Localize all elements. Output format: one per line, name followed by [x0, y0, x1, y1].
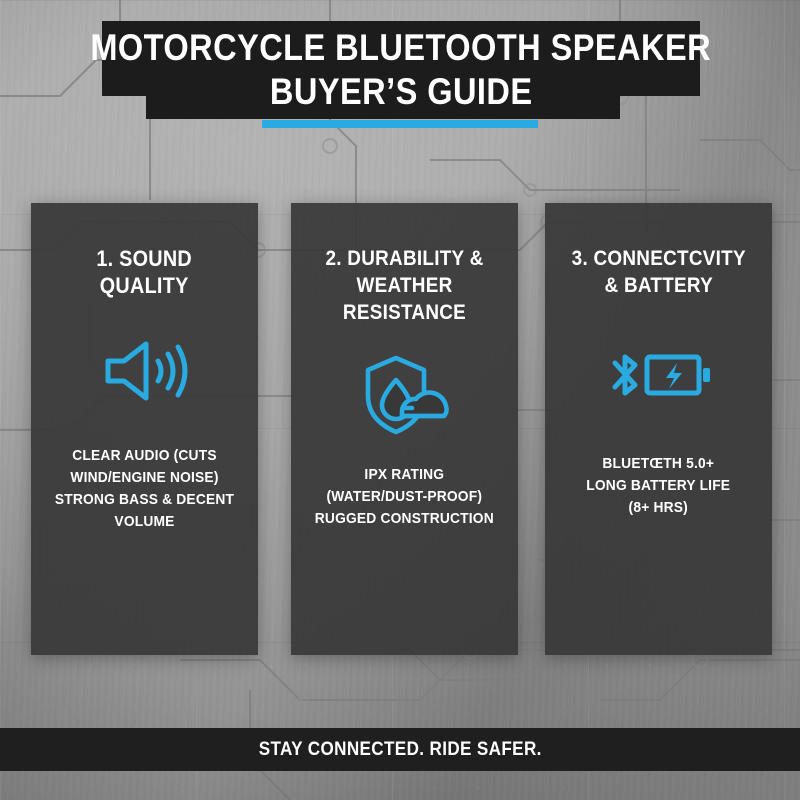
card-title: 2. DURABILITY & WEATHER RESISTANCE — [302, 245, 506, 326]
feature-card-connectivity-battery: 3. CONNECTCVITY & BATTERY BLUETŒTH 5.0+ … — [545, 203, 772, 655]
bluetooth-battery-charging-icon — [607, 337, 711, 413]
infographic-poster: MOTORCYCLE BLUETOOTH SPEAKER BUYER’S GUI… — [0, 0, 800, 800]
title-line-1: MOTORCYCLE BLUETOOTH SPEAKER — [91, 26, 712, 70]
footer-tagline: STAY CONNECTED. RIDE SAFER. — [258, 739, 541, 761]
card-body: IPX RATING (WATER/DUST-PROOF) RUGGED CON… — [309, 464, 499, 530]
card-body: CLEAR AUDIO (CUTS WIND/ENGINE NOISE) STR… — [40, 445, 249, 533]
feature-card-sound-quality: 1. SOUND QUALITY CLEAR AUDIO (CUTS WIND/… — [31, 203, 258, 655]
accent-underline — [262, 120, 538, 128]
card-title: 1. SOUND QUALITY — [93, 245, 196, 299]
feature-card-durability-weather: 2. DURABILITY & WEATHER RESISTANCE IPX R… — [291, 203, 518, 655]
footer-bar: STAY CONNECTED. RIDE SAFER. — [0, 728, 800, 771]
page-title: MOTORCYCLE BLUETOOTH SPEAKER BUYER’S GUI… — [102, 21, 700, 119]
card-body: BLUETŒTH 5.0+ LONG BATTERY LIFE (8+ HRS) — [581, 453, 736, 519]
card-title: 3. CONNECTCVITY & BATTERY — [568, 245, 749, 299]
speaker-volume-icon — [102, 333, 188, 409]
shield-water-cloud-icon — [356, 356, 454, 432]
title-line-2: BUYER’S GUIDE — [270, 70, 533, 114]
